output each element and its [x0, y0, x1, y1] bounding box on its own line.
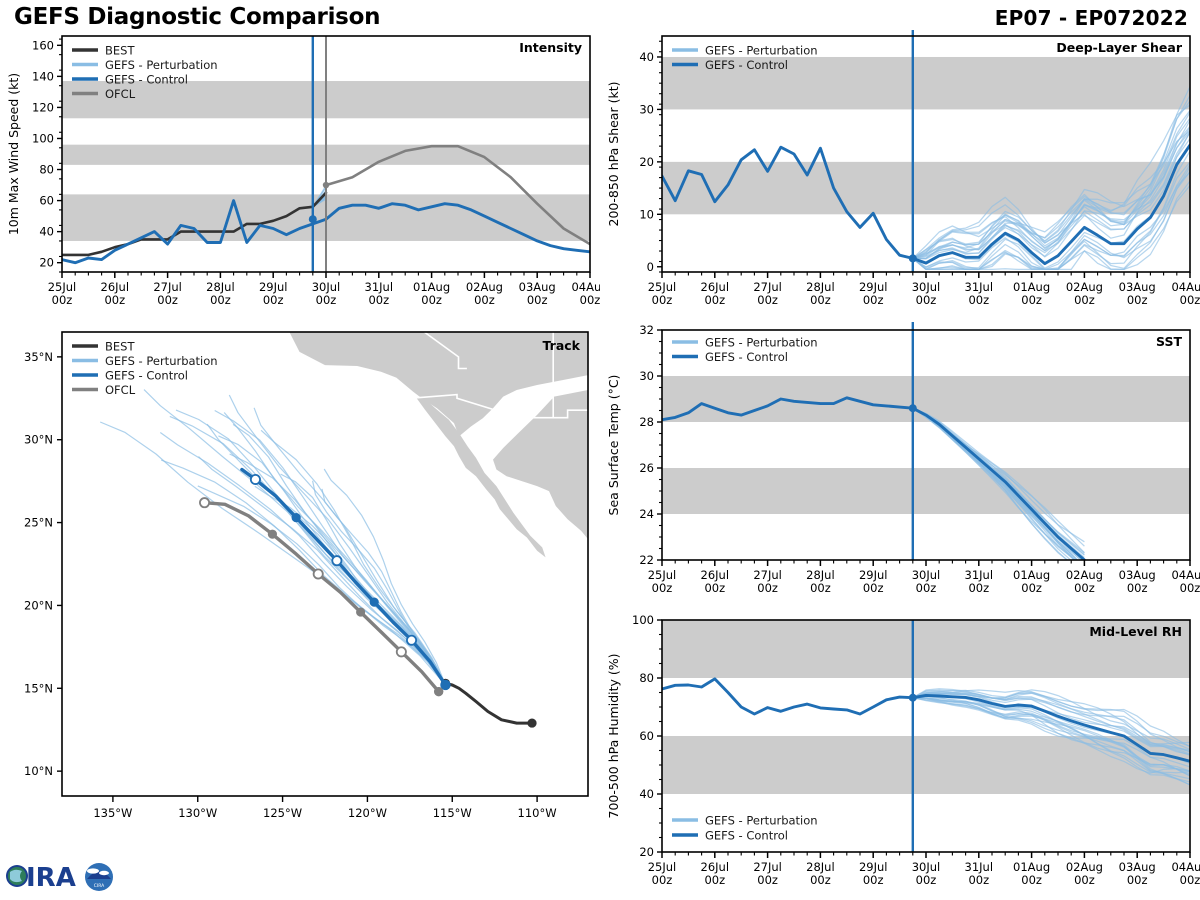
- shaded-band: [662, 162, 1190, 214]
- y-tick-label: 30: [639, 102, 654, 116]
- x-tick-date: 03Aug: [1119, 568, 1156, 582]
- x-tick-hour: 00z: [1180, 293, 1200, 307]
- y-tick-label: 140: [32, 69, 54, 83]
- y-tick-label: 60: [639, 729, 654, 743]
- y-tick-label: 40: [39, 225, 54, 239]
- lon-tick-label: 125°W: [263, 806, 302, 820]
- svg-text:IRA: IRA: [26, 863, 76, 893]
- x-tick-date: 26Jul: [701, 568, 730, 582]
- track-point-marker: [397, 647, 406, 656]
- x-tick-date: 29Jul: [859, 280, 888, 294]
- x-tick-date: 02Aug: [1066, 568, 1103, 582]
- legend-label: GEFS - Perturbation: [705, 44, 818, 58]
- x-tick-hour: 00z: [1074, 293, 1095, 307]
- x-tick-hour: 00z: [580, 293, 600, 307]
- y-tick-label: 22: [639, 553, 654, 567]
- x-tick-hour: 00z: [421, 293, 442, 307]
- panel-rh: 2040608010025Jul00z26Jul00z27Jul00z28Jul…: [600, 608, 1200, 900]
- x-tick-date: 25Jul: [648, 280, 677, 294]
- legend-label: OFCL: [105, 87, 136, 101]
- y-tick-label: 26: [639, 461, 654, 475]
- x-tick-date: 25Jul: [648, 568, 677, 582]
- x-tick-hour: 00z: [968, 873, 989, 887]
- panel-sst: 22242628303225Jul00z26Jul00z27Jul00z28Ju…: [600, 320, 1200, 606]
- panel-intensity: 2040608010012014016025Jul00z26Jul00z27Ju…: [0, 26, 600, 318]
- x-tick-hour: 00z: [1074, 873, 1095, 887]
- y-tick-label: 100: [32, 131, 54, 145]
- track-point-marker: [356, 607, 365, 616]
- x-tick-hour: 00z: [863, 873, 884, 887]
- legend-label: GEFS - Control: [705, 829, 788, 843]
- y-tick-label: 100: [632, 613, 654, 627]
- init-point-marker: [909, 254, 917, 262]
- y-tick-label: 0: [647, 260, 654, 274]
- x-tick-date: 02Aug: [1066, 280, 1103, 294]
- x-tick-date: 28Jul: [806, 860, 835, 874]
- y-axis-label: 700-500 hPa Humidity (%): [606, 653, 621, 818]
- x-tick-date: 30Jul: [912, 860, 941, 874]
- lon-tick-label: 130°W: [178, 806, 217, 820]
- x-tick-date: 30Jul: [912, 568, 941, 582]
- y-tick-label: 30: [639, 369, 654, 383]
- x-tick-hour: 00z: [1180, 873, 1200, 887]
- ofcl-init-marker: [323, 182, 329, 188]
- x-tick-hour: 00z: [1074, 581, 1095, 595]
- x-tick-date: 01Aug: [1013, 280, 1050, 294]
- x-tick-hour: 00z: [704, 581, 725, 595]
- y-axis-label: 10m Max Wind Speed (kt): [6, 73, 21, 235]
- cira-logo: IRA CIRA: [4, 854, 120, 898]
- legend-label: OFCL: [105, 383, 136, 397]
- y-tick-label: 40: [639, 787, 654, 801]
- x-tick-hour: 00z: [652, 581, 673, 595]
- x-tick-hour: 00z: [1021, 581, 1042, 595]
- lon-tick-label: 135°W: [93, 806, 132, 820]
- lat-tick-label: 30°N: [24, 433, 53, 447]
- x-tick-date: 03Aug: [519, 280, 556, 294]
- x-tick-date: 27Jul: [753, 280, 782, 294]
- x-tick-hour: 00z: [1180, 581, 1200, 595]
- y-tick-label: 40: [639, 50, 654, 64]
- legend-label: GEFS - Perturbation: [705, 814, 818, 828]
- x-tick-date: 31Jul: [965, 860, 994, 874]
- panel-title: Deep-Layer Shear: [1056, 40, 1182, 55]
- x-tick-hour: 00z: [368, 293, 389, 307]
- panel-title: Mid-Level RH: [1089, 624, 1182, 639]
- lat-tick-label: 10°N: [24, 764, 53, 778]
- y-tick-label: 20: [639, 155, 654, 169]
- y-tick-label: 120: [32, 100, 54, 114]
- x-tick-hour: 00z: [863, 293, 884, 307]
- x-tick-date: 30Jul: [312, 280, 341, 294]
- x-tick-date: 28Jul: [806, 568, 835, 582]
- svg-text:CIRA: CIRA: [94, 883, 105, 889]
- x-tick-hour: 00z: [1127, 873, 1148, 887]
- legend-label: GEFS - Perturbation: [105, 354, 218, 368]
- legend-label: BEST: [105, 340, 135, 354]
- x-tick-hour: 00z: [968, 293, 989, 307]
- x-tick-hour: 00z: [263, 293, 284, 307]
- track-point-marker: [200, 498, 209, 507]
- x-tick-hour: 00z: [916, 581, 937, 595]
- track-point-marker: [292, 513, 301, 522]
- x-tick-date: 01Aug: [1013, 860, 1050, 874]
- legend-label: GEFS - Control: [105, 73, 188, 87]
- y-tick-label: 80: [639, 671, 654, 685]
- x-tick-date: 04Aug: [1171, 280, 1200, 294]
- legend-label: GEFS - Control: [705, 350, 788, 364]
- x-tick-hour: 00z: [1127, 293, 1148, 307]
- x-tick-date: 30Jul: [912, 280, 941, 294]
- x-tick-hour: 00z: [316, 293, 337, 307]
- x-tick-date: 27Jul: [153, 280, 182, 294]
- x-tick-hour: 00z: [810, 873, 831, 887]
- panel-title: Intensity: [519, 40, 582, 55]
- x-tick-date: 28Jul: [806, 280, 835, 294]
- x-tick-hour: 00z: [968, 581, 989, 595]
- panel-title: SST: [1156, 334, 1182, 349]
- x-tick-date: 31Jul: [365, 280, 394, 294]
- x-tick-date: 04Aug: [1171, 568, 1200, 582]
- x-tick-date: 01Aug: [413, 280, 450, 294]
- track-point-marker: [314, 569, 323, 578]
- x-tick-date: 02Aug: [1066, 860, 1103, 874]
- y-tick-label: 10: [639, 207, 654, 221]
- x-tick-date: 29Jul: [859, 568, 888, 582]
- x-tick-hour: 00z: [704, 293, 725, 307]
- legend-label: BEST: [105, 44, 135, 58]
- init-point-marker: [909, 694, 917, 702]
- x-tick-hour: 00z: [863, 581, 884, 595]
- x-tick-date: 27Jul: [753, 568, 782, 582]
- lat-tick-label: 20°N: [24, 598, 53, 612]
- lat-tick-label: 35°N: [24, 350, 53, 364]
- x-tick-date: 28Jul: [206, 280, 235, 294]
- lon-tick-label: 110°W: [518, 806, 557, 820]
- x-tick-date: 04Aug: [1171, 860, 1200, 874]
- x-tick-date: 29Jul: [259, 280, 288, 294]
- track-point-marker: [332, 556, 341, 565]
- init-point-marker: [309, 215, 317, 223]
- lon-tick-label: 115°W: [433, 806, 472, 820]
- panel-title: Track: [543, 338, 581, 353]
- x-tick-hour: 00z: [757, 581, 778, 595]
- x-tick-date: 25Jul: [648, 860, 677, 874]
- x-tick-date: 29Jul: [859, 860, 888, 874]
- x-tick-date: 27Jul: [753, 860, 782, 874]
- x-tick-hour: 00z: [810, 581, 831, 595]
- x-tick-date: 03Aug: [1119, 860, 1156, 874]
- x-tick-date: 26Jul: [101, 280, 130, 294]
- x-tick-date: 31Jul: [965, 568, 994, 582]
- y-tick-label: 20: [39, 256, 54, 270]
- x-tick-hour: 00z: [210, 293, 231, 307]
- x-tick-date: 02Aug: [466, 280, 503, 294]
- x-tick-date: 25Jul: [48, 280, 77, 294]
- track-point-marker: [268, 530, 277, 539]
- x-tick-hour: 00z: [916, 873, 937, 887]
- legend-label: GEFS - Perturbation: [105, 58, 218, 72]
- x-tick-hour: 00z: [104, 293, 125, 307]
- track-point-marker: [370, 598, 379, 607]
- ofcl-init-marker: [434, 687, 443, 696]
- track-point-marker: [251, 475, 260, 484]
- x-tick-date: 26Jul: [701, 280, 730, 294]
- y-tick-label: 24: [639, 507, 654, 521]
- init-point-marker: [909, 404, 917, 412]
- panel-track: 10°N15°N20°N25°N30°N35°N135°W130°W125°W1…: [0, 322, 600, 858]
- lon-tick-label: 120°W: [348, 806, 387, 820]
- lat-tick-label: 15°N: [24, 681, 53, 695]
- x-tick-hour: 00z: [916, 293, 937, 307]
- y-tick-label: 32: [639, 323, 654, 337]
- x-tick-hour: 00z: [757, 293, 778, 307]
- x-tick-hour: 00z: [652, 293, 673, 307]
- y-axis-label: 200-850 hPa Shear (kt): [606, 82, 621, 227]
- y-tick-label: 20: [639, 845, 654, 859]
- panel-shear: 01020304025Jul00z26Jul00z27Jul00z28Jul00…: [600, 26, 1200, 318]
- x-tick-hour: 00z: [704, 873, 725, 887]
- x-tick-hour: 00z: [757, 873, 778, 887]
- x-tick-date: 03Aug: [1119, 280, 1156, 294]
- x-tick-hour: 00z: [1021, 873, 1042, 887]
- legend-label: GEFS - Control: [105, 369, 188, 383]
- y-tick-label: 60: [39, 194, 54, 208]
- x-tick-hour: 00z: [810, 293, 831, 307]
- x-tick-hour: 00z: [52, 293, 73, 307]
- y-axis-label: Sea Surface Temp (°C): [606, 375, 621, 516]
- x-tick-hour: 00z: [157, 293, 178, 307]
- x-tick-hour: 00z: [474, 293, 495, 307]
- x-tick-hour: 00z: [652, 873, 673, 887]
- x-tick-date: 01Aug: [1013, 568, 1050, 582]
- x-tick-hour: 00z: [527, 293, 548, 307]
- track-point-marker: [407, 636, 416, 645]
- x-tick-date: 04Aug: [571, 280, 600, 294]
- y-tick-label: 80: [39, 163, 54, 177]
- y-tick-label: 160: [32, 38, 54, 52]
- legend-label: GEFS - Control: [705, 58, 788, 72]
- x-tick-hour: 00z: [1021, 293, 1042, 307]
- track-point-marker: [527, 718, 536, 727]
- x-tick-date: 26Jul: [701, 860, 730, 874]
- shaded-band: [662, 736, 1190, 794]
- legend-label: GEFS - Perturbation: [705, 336, 818, 350]
- lat-tick-label: 25°N: [24, 516, 53, 530]
- shaded-band: [662, 468, 1190, 514]
- x-tick-date: 31Jul: [965, 280, 994, 294]
- x-tick-hour: 00z: [1127, 581, 1148, 595]
- y-tick-label: 28: [639, 415, 654, 429]
